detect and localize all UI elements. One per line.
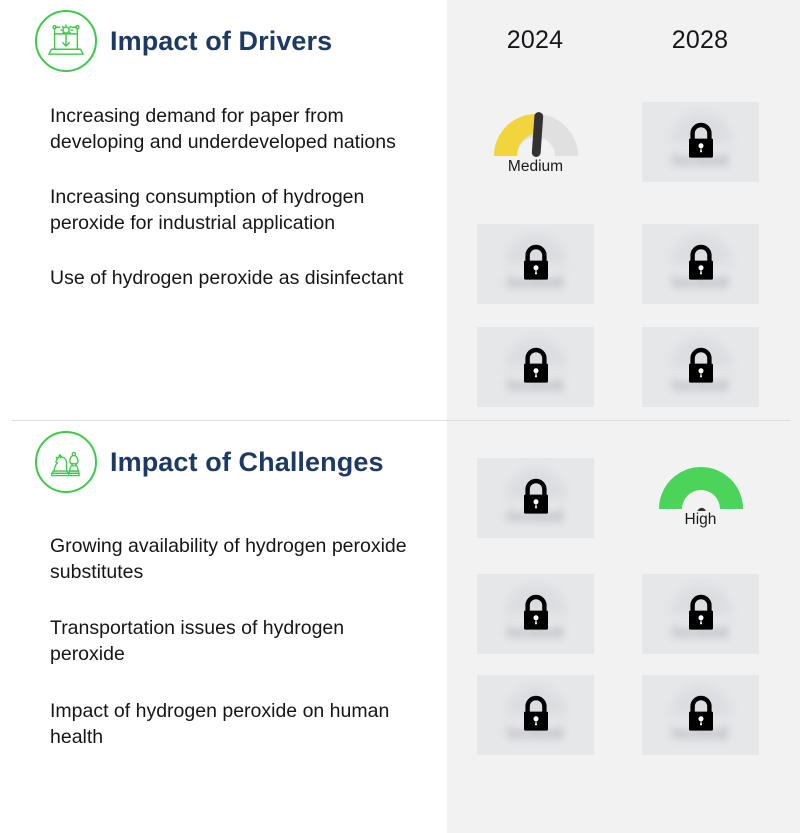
cell-drivers-1-2028[interactable]: locked — [642, 224, 759, 304]
list-item: Use of hydrogen peroxide as disinfectant — [50, 266, 411, 292]
locked-tile[interactable]: locked — [477, 327, 594, 407]
section-header-drivers: Impact of Drivers — [0, 0, 447, 82]
locked-tile[interactable]: locked — [477, 574, 594, 654]
cell-challenges-0-2024[interactable]: locked — [477, 458, 594, 538]
section-title-challenges: Impact of Challenges — [110, 447, 384, 478]
gauge-medium: Medium — [477, 102, 594, 182]
locked-tile[interactable]: locked — [477, 675, 594, 755]
list-item: Transportation issues of hydrogen peroxi… — [50, 616, 411, 668]
locked-tile[interactable]: locked — [642, 327, 759, 407]
challenge-item-text: Impact of hydrogen peroxide on human hea… — [50, 699, 411, 751]
locked-tile[interactable]: locked — [642, 574, 759, 654]
cell-challenges-2-2024[interactable]: locked — [477, 675, 594, 755]
cell-drivers-0-2028[interactable]: locked — [642, 102, 759, 182]
list-item: Increasing demand for paper from develop… — [50, 104, 411, 156]
gauge-dial — [489, 106, 583, 158]
lock-icon — [684, 694, 718, 734]
drivers-gear-laptop-icon — [35, 10, 97, 72]
lock-icon — [519, 477, 553, 517]
cell-challenges-1-2028[interactable]: locked — [642, 574, 759, 654]
locked-tile[interactable]: locked — [477, 458, 594, 538]
column-header-2028: 2028 — [635, 26, 765, 55]
locked-tile[interactable]: locked — [477, 224, 594, 304]
section-divider — [12, 420, 790, 421]
column-header-2024: 2024 — [470, 26, 600, 55]
cell-challenges-2-2028[interactable]: locked — [642, 675, 759, 755]
list-item: Growing availability of hydrogen peroxid… — [50, 534, 411, 586]
locked-tile[interactable]: locked — [642, 102, 759, 182]
locked-tile[interactable]: locked — [642, 675, 759, 755]
driver-item-text: Use of hydrogen peroxide as disinfectant — [50, 266, 411, 292]
locked-tile[interactable]: locked — [642, 224, 759, 304]
list-item: Increasing consumption of hydrogen perox… — [50, 185, 411, 237]
gauge-label-high: High — [642, 511, 759, 529]
gauge-high: High — [642, 455, 759, 535]
list-item: Impact of hydrogen peroxide on human hea… — [50, 699, 411, 751]
gauge-label-medium: Medium — [477, 158, 594, 176]
cell-challenges-1-2024[interactable]: locked — [477, 574, 594, 654]
section-drivers: Impact of Drivers Increasing demand for … — [0, 0, 447, 292]
drivers-item-list: Increasing demand for paper from develop… — [0, 104, 447, 292]
section-header-challenges: Impact of Challenges — [0, 421, 447, 503]
cell-drivers-1-2024[interactable]: locked — [477, 224, 594, 304]
challenge-item-text: Growing availability of hydrogen peroxid… — [50, 534, 411, 586]
challenges-item-list: Growing availability of hydrogen peroxid… — [0, 534, 447, 751]
challenge-item-text: Transportation issues of hydrogen peroxi… — [50, 616, 411, 668]
infographic-page: 2024 2028 Impact of Drivers — [0, 0, 800, 833]
lock-icon — [519, 243, 553, 283]
lock-icon — [519, 346, 553, 386]
driver-item-text: Increasing demand for paper from develop… — [50, 104, 411, 156]
driver-item-text: Increasing consumption of hydrogen perox… — [50, 185, 411, 237]
chess-pieces-icon — [35, 431, 97, 493]
cell-challenges-0-2028[interactable]: High — [642, 455, 759, 535]
lock-icon — [519, 694, 553, 734]
cell-drivers-0-2024[interactable]: Medium — [477, 102, 594, 182]
lock-icon — [684, 243, 718, 283]
cell-drivers-2-2028[interactable]: locked — [642, 327, 759, 407]
cell-drivers-2-2024[interactable]: locked — [477, 327, 594, 407]
lock-icon — [684, 593, 718, 633]
lock-icon — [684, 121, 718, 161]
section-title-drivers: Impact of Drivers — [110, 26, 332, 57]
lock-icon — [519, 593, 553, 633]
section-challenges: Impact of Challenges Growing availabilit… — [0, 421, 447, 751]
lock-icon — [684, 346, 718, 386]
gauge-dial — [654, 459, 748, 511]
